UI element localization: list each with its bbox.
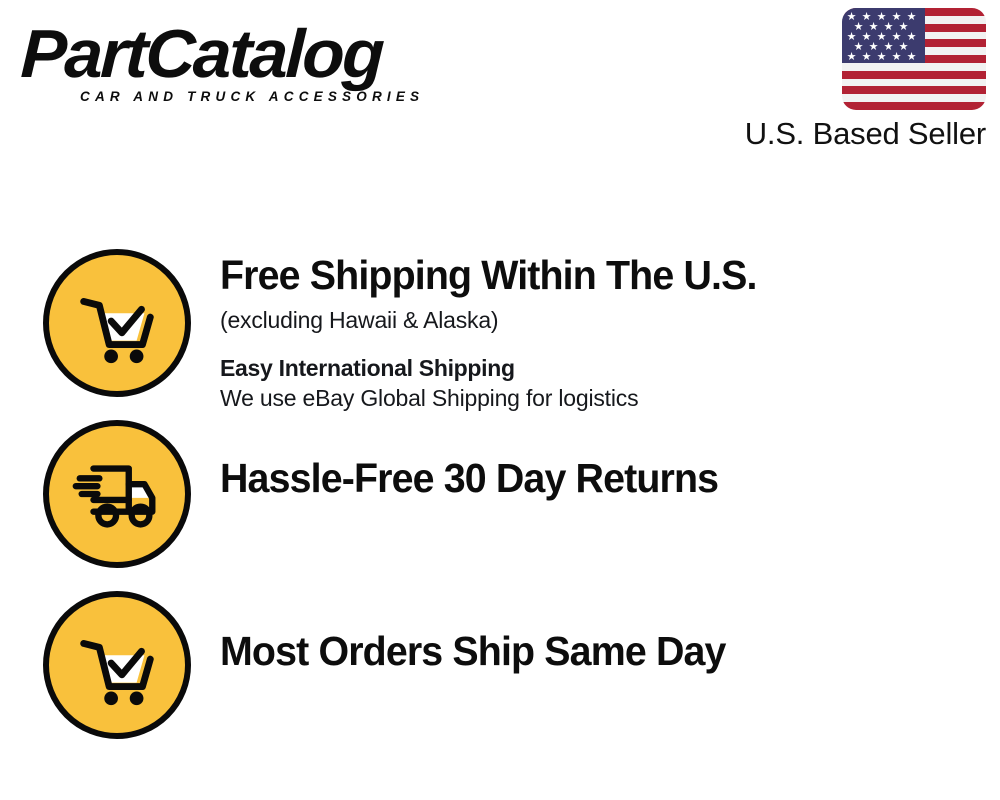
flag-stripe [842,102,986,110]
feature-headline: Free Shipping Within The U.S. [220,254,969,297]
flag-canton: ★ ★ ★ ★ ★ ★ ★ ★ ★ ★ ★ ★ ★ ★ ★ ★ ★ ★ ★ ★ [842,8,925,63]
flag-stripe [842,71,986,79]
us-flag-icon: ★ ★ ★ ★ ★ ★ ★ ★ ★ ★ ★ ★ ★ ★ ★ ★ ★ ★ ★ ★ [842,8,986,110]
feature-text-shipping: Free Shipping Within The U.S. (excluding… [191,248,1000,412]
cart-check-icon [43,249,191,397]
page-header: PartCatalog CAR AND TRUCK ACCESSORIES ★ … [0,0,1000,170]
brand-logo[interactable]: PartCatalog CAR AND TRUCK ACCESSORIES [22,22,492,104]
feature-headline: Hassle-Free 30 Day Returns [220,457,969,500]
logo-wordmark: PartCatalog [20,22,502,87]
feature-row-returns: Hassle-Free 30 Day Returns [0,419,1000,589]
feature-text-sameday: Most Orders Ship Same Day [191,590,1000,673]
flag-stripe [842,94,986,102]
flag-star: ★ [876,52,887,63]
feature-text-returns: Hassle-Free 30 Day Returns [191,419,1000,500]
flag-stripe [842,86,986,94]
feature-sub-heading: Easy International Shipping [220,354,1000,382]
flag-stripe [842,63,986,71]
flag-stripe [842,79,986,87]
flag-star: ★ [906,52,917,63]
flag-star: ★ [861,52,872,63]
us-based-seller-badge: ★ ★ ★ ★ ★ ★ ★ ★ ★ ★ ★ ★ ★ ★ ★ ★ ★ ★ ★ ★ [745,8,986,152]
feature-sub-note: (excluding Hawaii & Alaska) [220,306,1000,334]
cart-check-icon [43,591,191,739]
feature-row-shipping: Free Shipping Within The U.S. (excluding… [0,248,1000,423]
feature-row-sameday: Most Orders Ship Same Day [0,590,1000,760]
us-based-seller-label: U.S. Based Seller [745,116,986,152]
flag-star: ★ [891,52,902,63]
flag-star: ★ [846,52,857,63]
feature-sub-detail: We use eBay Global Shipping for logistic… [220,384,1000,412]
delivery-truck-icon [43,420,191,568]
feature-headline: Most Orders Ship Same Day [220,630,969,673]
